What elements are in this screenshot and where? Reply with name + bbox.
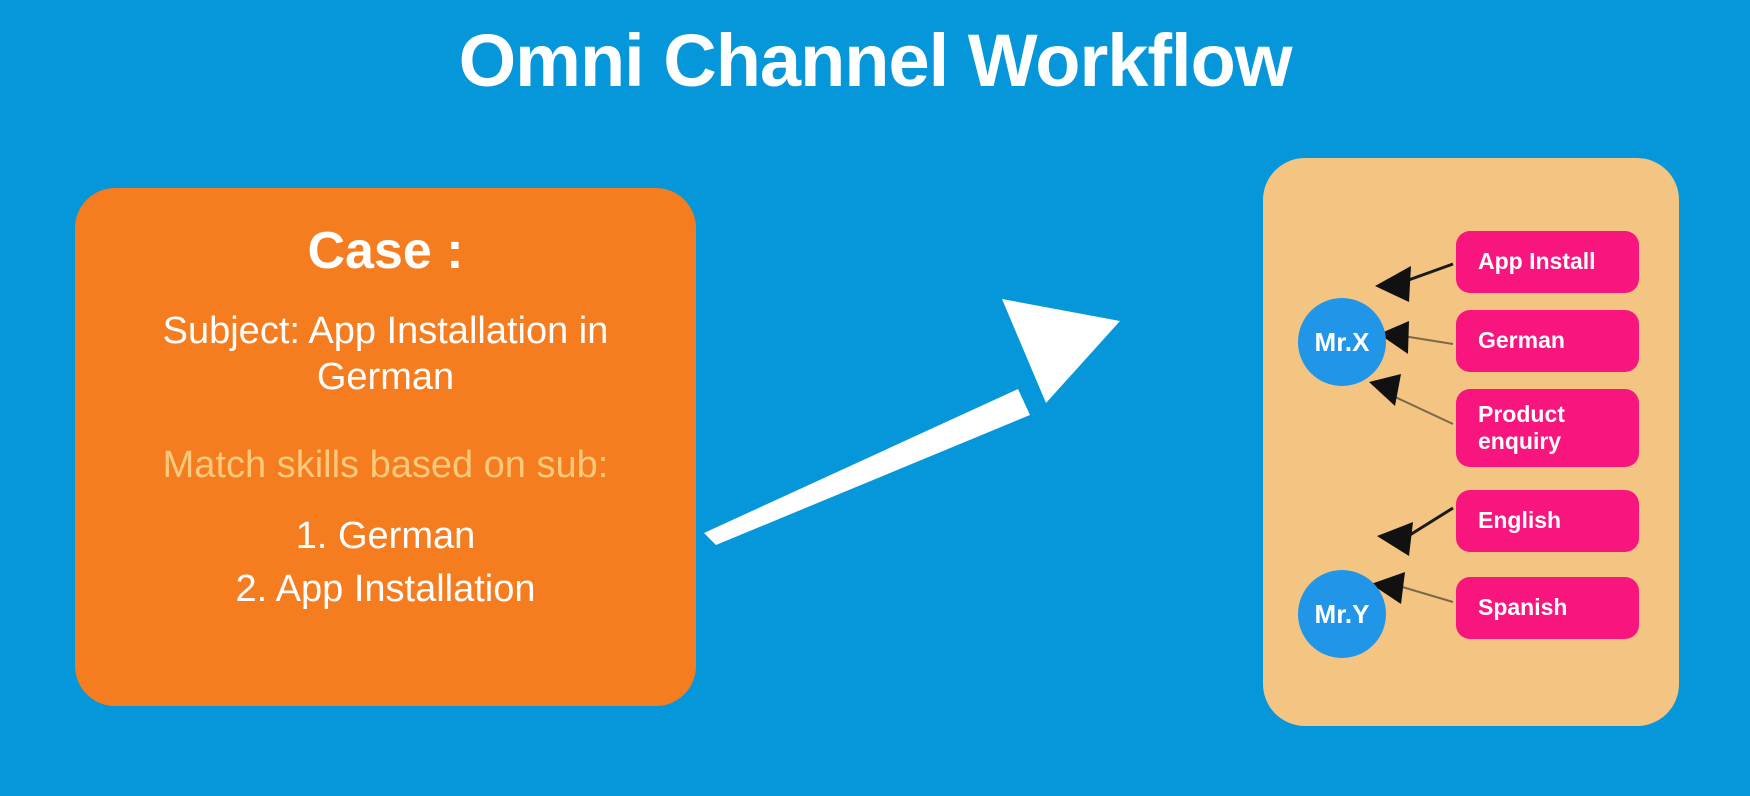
- slide-canvas: Omni Channel Workflow Case : Subject: Ap…: [0, 0, 1750, 796]
- case-subject-text: Subject: App Installation in German: [101, 308, 670, 401]
- arrowhead-icon: [1375, 266, 1411, 302]
- match-skills-note: Match skills based on sub:: [101, 443, 670, 489]
- skill-chip-product-enquiry[interactable]: Product enquiry: [1456, 389, 1639, 467]
- case-skill-item-1: 1. German: [101, 510, 670, 562]
- agent-node-label: Mr.X: [1315, 327, 1370, 358]
- skill-chip-english[interactable]: English: [1456, 490, 1639, 552]
- page-title: Omni Channel Workflow: [0, 20, 1750, 101]
- agent-node-mr-x[interactable]: Mr.X: [1298, 298, 1386, 386]
- agent-skill-panel: Mr.X Mr.Y App Install German Product enq…: [1263, 158, 1679, 726]
- skill-chip-label: German: [1478, 327, 1565, 354]
- skill-chip-spanish[interactable]: Spanish: [1456, 577, 1639, 639]
- arrowhead-icon: [1369, 374, 1401, 406]
- agent-node-mr-y[interactable]: Mr.Y: [1298, 570, 1386, 658]
- flow-arrow-icon: [690, 255, 1210, 545]
- skill-chip-label: Product enquiry: [1478, 401, 1639, 455]
- case-skill-item-2: 2. App Installation: [101, 563, 670, 615]
- skill-chip-label: Spanish: [1478, 594, 1567, 621]
- agent-node-label: Mr.Y: [1315, 599, 1370, 630]
- skill-chip-label: App Install: [1478, 248, 1596, 275]
- case-heading: Case :: [101, 222, 670, 282]
- arrowhead-icon: [1377, 522, 1413, 556]
- skill-chip-label: English: [1478, 507, 1561, 534]
- skill-chip-app-install[interactable]: App Install: [1456, 231, 1639, 293]
- skill-chip-german[interactable]: German: [1456, 310, 1639, 372]
- case-card: Case : Subject: App Installation in Germ…: [75, 188, 696, 706]
